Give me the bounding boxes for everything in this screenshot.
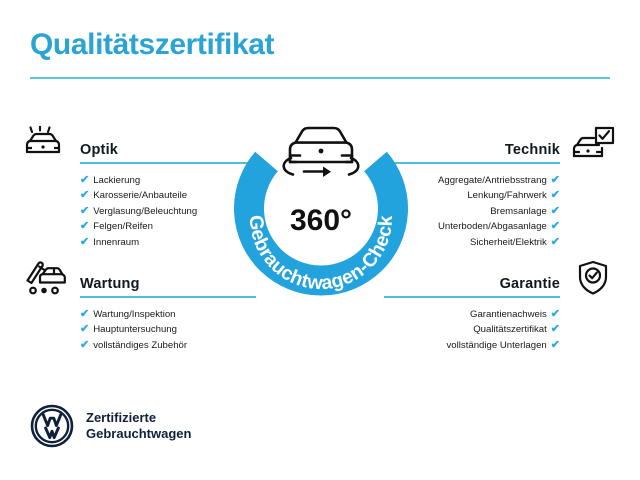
check-icon: ✔ [551,189,560,201]
list-item-label: Verglasung/Beleuchtung [93,206,197,217]
list-item-label: Karosserie/Anbauteile [93,190,187,201]
check-icon: ✔ [551,174,560,186]
list-item: ✔vollständiges Zubehör [80,338,264,353]
check-icon: ✔ [80,174,89,186]
list-item: ✔Wartung/Inspektion [80,307,264,322]
car-headlights-icon [24,126,70,162]
check-icon: ✔ [551,308,560,320]
list-item-label: Felgen/Reifen [93,221,153,232]
volkswagen-logo [30,404,74,448]
list-item-label: Bremsanlage [490,206,547,217]
checklist-garantie: Garantienachweis✔ Qualitätszertifikat✔ v… [376,307,616,353]
list-item-label: Wartung/Inspektion [93,309,175,320]
badge-360-gebrauchtwagen-check: Gebrauchtwagen-Check 360° [228,116,414,302]
check-icon: ✔ [80,323,89,335]
list-item-label: vollständige Unterlagen [447,340,547,351]
section-title-garantie: Garantie [500,276,560,292]
list-item-label: Lenkung/Fahrwerk [467,190,546,201]
list-item-label: Innenraum [93,237,139,248]
checklist-wartung: ✔Wartung/Inspektion ✔Hauptuntersuchung ✔… [24,307,264,353]
list-item-label: Garantienachweis [470,309,547,320]
badge-curved-text: Gebrauchtwagen-Check [245,214,398,294]
shield-check-icon [570,260,616,296]
check-icon: ✔ [80,189,89,201]
car-checkbox-icon [570,126,616,162]
list-item-label: Hauptuntersuchung [93,324,177,335]
list-item-label: Sicherheit/Elektrik [470,237,547,248]
list-item-label: vollständiges Zubehör [93,340,187,351]
check-icon: ✔ [551,339,560,351]
list-item-label: Qualitätszertifikat [473,324,547,335]
header-divider [30,77,610,79]
check-icon: ✔ [551,323,560,335]
page-title: Qualitätszertifikat [30,30,274,60]
list-item: vollständige Unterlagen✔ [376,338,560,353]
check-icon: ✔ [80,308,89,320]
car-rotation-icon [284,128,359,177]
check-icon: ✔ [80,236,89,248]
list-item: Qualitätszertifikat✔ [376,322,560,337]
check-icon: ✔ [80,339,89,351]
check-icon: ✔ [80,205,89,217]
list-item-label: Unterboden/Abgasanlage [438,221,547,232]
footer-line-2: Gebrauchtwagen [86,426,191,441]
footer-text: Zertifizierte Gebrauchtwagen [86,410,191,442]
check-icon: ✔ [551,205,560,217]
section-title-optik: Optik [80,142,118,158]
check-icon: ✔ [551,220,560,232]
section-title-wartung: Wartung [80,276,140,292]
footer-line-1: Zertifizierte [86,410,156,425]
footer-brand: Zertifizierte Gebrauchtwagen [30,404,191,448]
section-title-technik: Technik [505,142,560,158]
wrench-car-icon [24,260,70,296]
list-item: ✔Hauptuntersuchung [80,322,264,337]
check-icon: ✔ [80,220,89,232]
check-icon: ✔ [551,236,560,248]
list-item-label: Lackierung [93,175,140,186]
list-item-label: Aggregate/Antriebsstrang [438,175,547,186]
list-item: Garantienachweis✔ [376,307,560,322]
certificate-page: Qualitätszertifikat Optik [0,0,640,480]
